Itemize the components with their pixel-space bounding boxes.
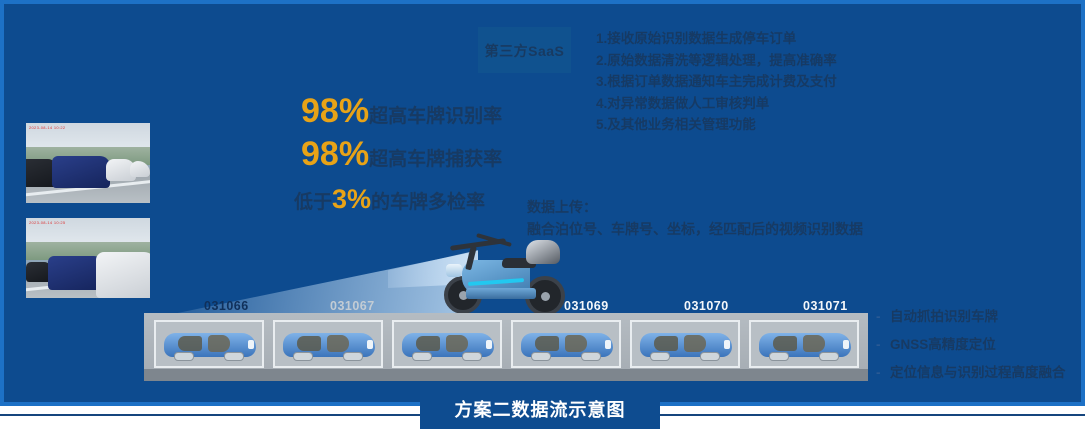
feature-bullet-label: 定位信息与识别过程高度融合	[890, 365, 1066, 380]
bay-number: 031070	[684, 299, 729, 313]
bullet-dash-icon: -	[876, 303, 890, 331]
parking-bay[interactable]	[630, 320, 740, 368]
feature-bullet: -定位信息与识别过程高度融合	[876, 359, 1066, 387]
data-upload-body: 融合泊位号、车牌号、坐标，经匹配后的视频识别数据	[527, 218, 863, 240]
stat-value-3: 3%	[332, 184, 371, 214]
car-top-view-icon	[640, 329, 732, 361]
car-top-view-icon	[759, 329, 851, 361]
parking-bay[interactable]	[154, 320, 264, 368]
street-parking-photo-2: 2023-08-14 10:25	[26, 218, 150, 298]
stat-value-1: 98%	[301, 92, 369, 130]
stat-line-3: 低于3%的车牌多检率	[294, 184, 485, 215]
bay-number: 031071	[803, 299, 848, 313]
parking-bay[interactable]	[392, 320, 502, 368]
feature-bullet-label: GNSS高精度定位	[890, 337, 996, 352]
bay-number: 031066	[204, 299, 249, 313]
car-top-view-icon	[283, 329, 375, 361]
diagram-canvas: 2023-08-14 10:22 2023-08-14 10:25 98%超高车…	[8, 8, 1077, 398]
stat-label-3: 的车牌多检率	[371, 192, 485, 213]
caption-rule-left	[0, 414, 420, 416]
photo-timestamp: 2023-08-14 10:25	[29, 220, 65, 225]
car-top-view-icon	[164, 329, 256, 361]
street-parking-photo-1: 2023-08-14 10:22	[26, 123, 150, 203]
parking-strip-base	[144, 369, 868, 381]
data-upload-title: 数据上传：	[527, 196, 863, 218]
bullet-dash-icon: -	[876, 331, 890, 359]
car-top-view-icon	[521, 329, 613, 361]
scooter-topcase	[526, 240, 560, 264]
stat-line-2: 98%超高车牌捕获率	[301, 137, 502, 171]
saas-function-list: 1.接收原始识别数据生成停车订单 2.原始数据清洗等逻辑处理，提高准确率 3.根…	[596, 28, 837, 136]
parking-bay[interactable]	[511, 320, 621, 368]
car-top-view-icon	[402, 329, 494, 361]
photo-timestamp: 2023-08-14 10:22	[29, 125, 65, 130]
stat-label-1: 超高车牌识别率	[369, 106, 502, 127]
parking-bay[interactable]	[273, 320, 383, 368]
bay-number: 031069	[564, 299, 609, 313]
electric-scooter-icon	[440, 236, 570, 316]
photo-car-white	[96, 252, 150, 298]
saas-list-item: 2.原始数据清洗等逻辑处理，提高准确率	[596, 50, 837, 72]
saas-list-item: 5.及其他业务相关管理功能	[596, 114, 837, 136]
bay-number: 031067	[330, 299, 375, 313]
saas-list-item: 4.对异常数据做人工审核判单	[596, 93, 837, 115]
stat-line-1: 98%超高车牌识别率	[301, 94, 502, 128]
saas-list-item: 1.接收原始识别数据生成停车订单	[596, 28, 837, 50]
caption-rule-right	[660, 414, 1085, 416]
stat-label-2: 超高车牌捕获率	[369, 149, 502, 170]
feature-bullet-label: 自动抓拍识别车牌	[890, 309, 998, 324]
scooter-deck	[466, 288, 536, 299]
feature-bullet-list: -自动抓拍识别车牌 -GNSS高精度定位 -定位信息与识别过程高度融合	[876, 303, 1066, 387]
stat-prefix-3: 低于	[294, 192, 332, 213]
caption-title: 方案二数据流示意图	[420, 396, 660, 422]
diagram-panel: 2023-08-14 10:22 2023-08-14 10:25 98%超高车…	[0, 0, 1085, 406]
scooter-camera-headlamp	[446, 264, 462, 277]
bullet-dash-icon: -	[876, 359, 890, 387]
parking-bay[interactable]	[749, 320, 859, 368]
data-upload-block: 数据上传： 融合泊位号、车牌号、坐标，经匹配后的视频识别数据	[527, 196, 863, 240]
stat-value-2: 98%	[301, 135, 369, 173]
saas-list-item: 3.根据订单数据通知车主完成计费及支付	[596, 71, 837, 93]
saas-label: 第三方SaaS	[478, 41, 571, 61]
feature-bullet: -自动抓拍识别车牌	[876, 303, 1066, 331]
feature-bullet: -GNSS高精度定位	[876, 331, 1066, 359]
photo-car-blue	[52, 156, 110, 188]
